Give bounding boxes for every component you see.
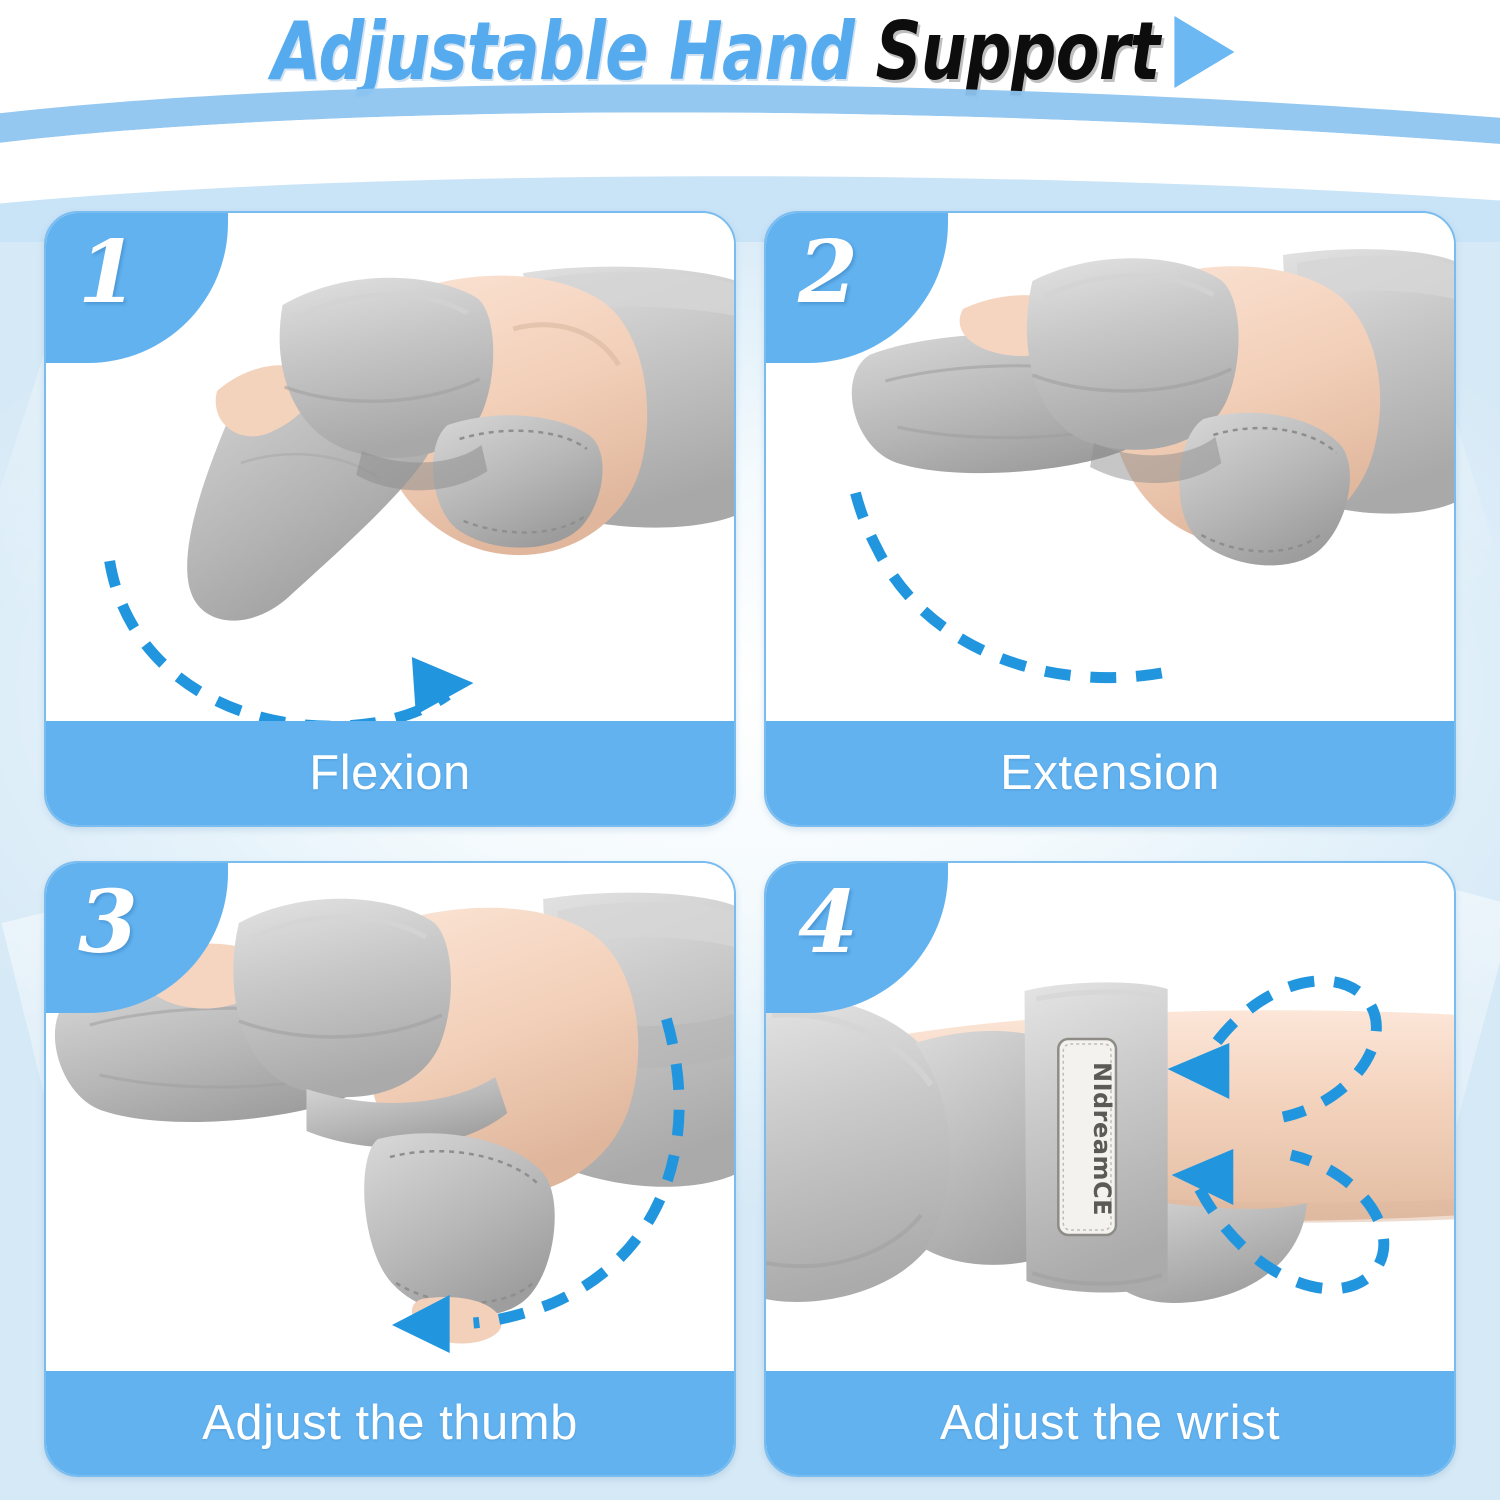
step-number-2: 2	[798, 219, 858, 327]
step-caption-4: Adjust the wrist	[766, 1371, 1454, 1475]
step-number-4: 4	[798, 869, 858, 977]
brand-label-text: NIdreamCE	[1088, 1049, 1116, 1229]
step-number-1: 1	[78, 219, 138, 327]
step-panel-3: 3 Adjust the thumb	[44, 861, 736, 1477]
step-number-3: 3	[78, 869, 138, 977]
header-banner: Adjustable Hand Support	[0, 0, 1500, 150]
step-caption-3: Adjust the thumb	[46, 1371, 734, 1475]
step-panel-2: 2 Extension	[764, 211, 1456, 827]
brand-name: NIdreamCE	[1088, 1062, 1116, 1216]
step-panel-1: 1 Flexion	[44, 211, 736, 827]
product-infographic: Adjustable Hand Support	[0, 0, 1500, 1500]
step-caption-2: Extension	[766, 721, 1454, 825]
step-panel-4: NIdreamCE 4 Adjust the wrist	[764, 861, 1456, 1477]
step-caption-1: Flexion	[46, 721, 734, 825]
